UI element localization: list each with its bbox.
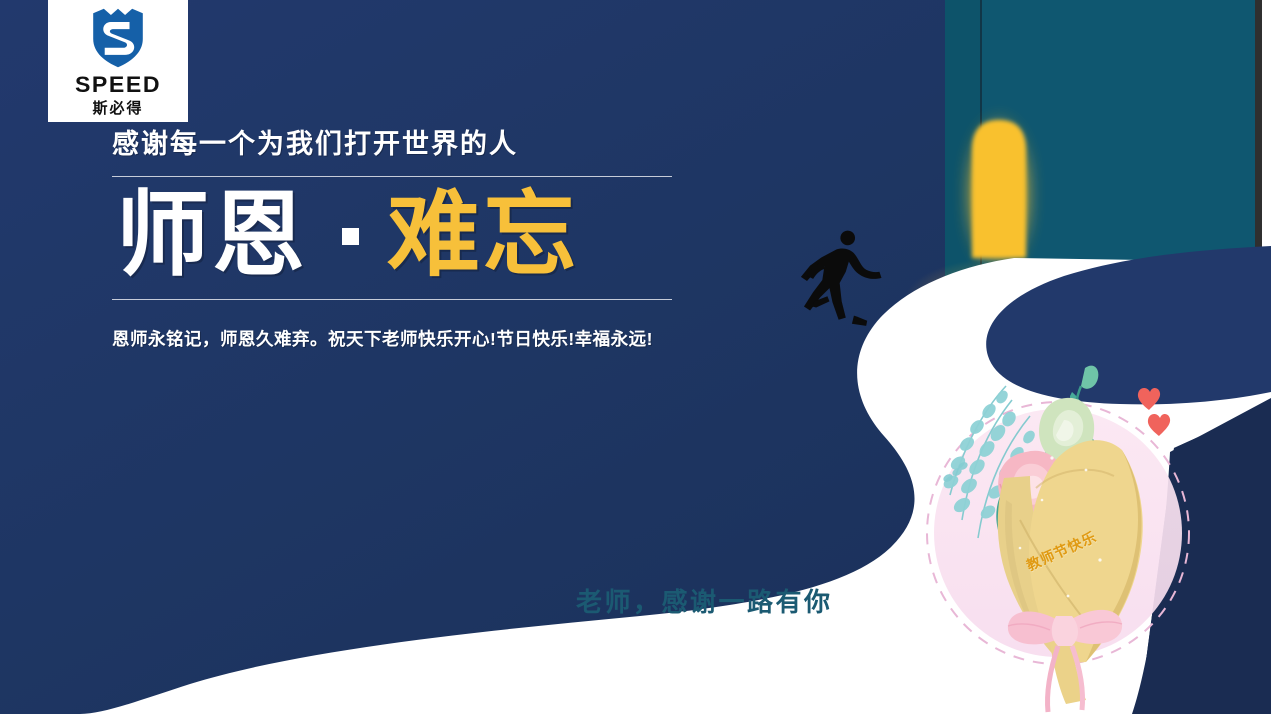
brand-logo-card[interactable]: SPEED 斯必得 <box>48 0 188 122</box>
poster-canvas: SPEED 斯必得 感谢每一个为我们打开世界的人 师恩 难忘 恩师永铭记，师恩久… <box>0 0 1271 714</box>
path-caption-text: 老师，感谢一路有你 <box>576 582 833 619</box>
title-separator-dot <box>342 228 359 245</box>
eyebrow-text: 感谢每一个为我们打开世界的人 <box>112 128 692 160</box>
brand-name-cn: 斯必得 <box>92 101 143 116</box>
headline-block: 感谢每一个为我们打开世界的人 师恩 难忘 恩师永铭记，师恩久难弃。祝天下老师快乐… <box>112 128 692 351</box>
brand-name-en: SPEED <box>75 74 161 96</box>
shield-s-icon <box>87 7 149 69</box>
title-part-gold: 难忘 <box>387 181 579 291</box>
title-part-white: 师恩 <box>116 181 308 291</box>
divider-bottom <box>112 299 672 300</box>
doorway-glow-icon <box>965 112 1033 262</box>
subline-text: 恩师永铭记，师恩久难弃。祝天下老师快乐开心!节日快乐!幸福永远! <box>112 326 692 351</box>
main-title: 师恩 难忘 <box>112 177 692 293</box>
